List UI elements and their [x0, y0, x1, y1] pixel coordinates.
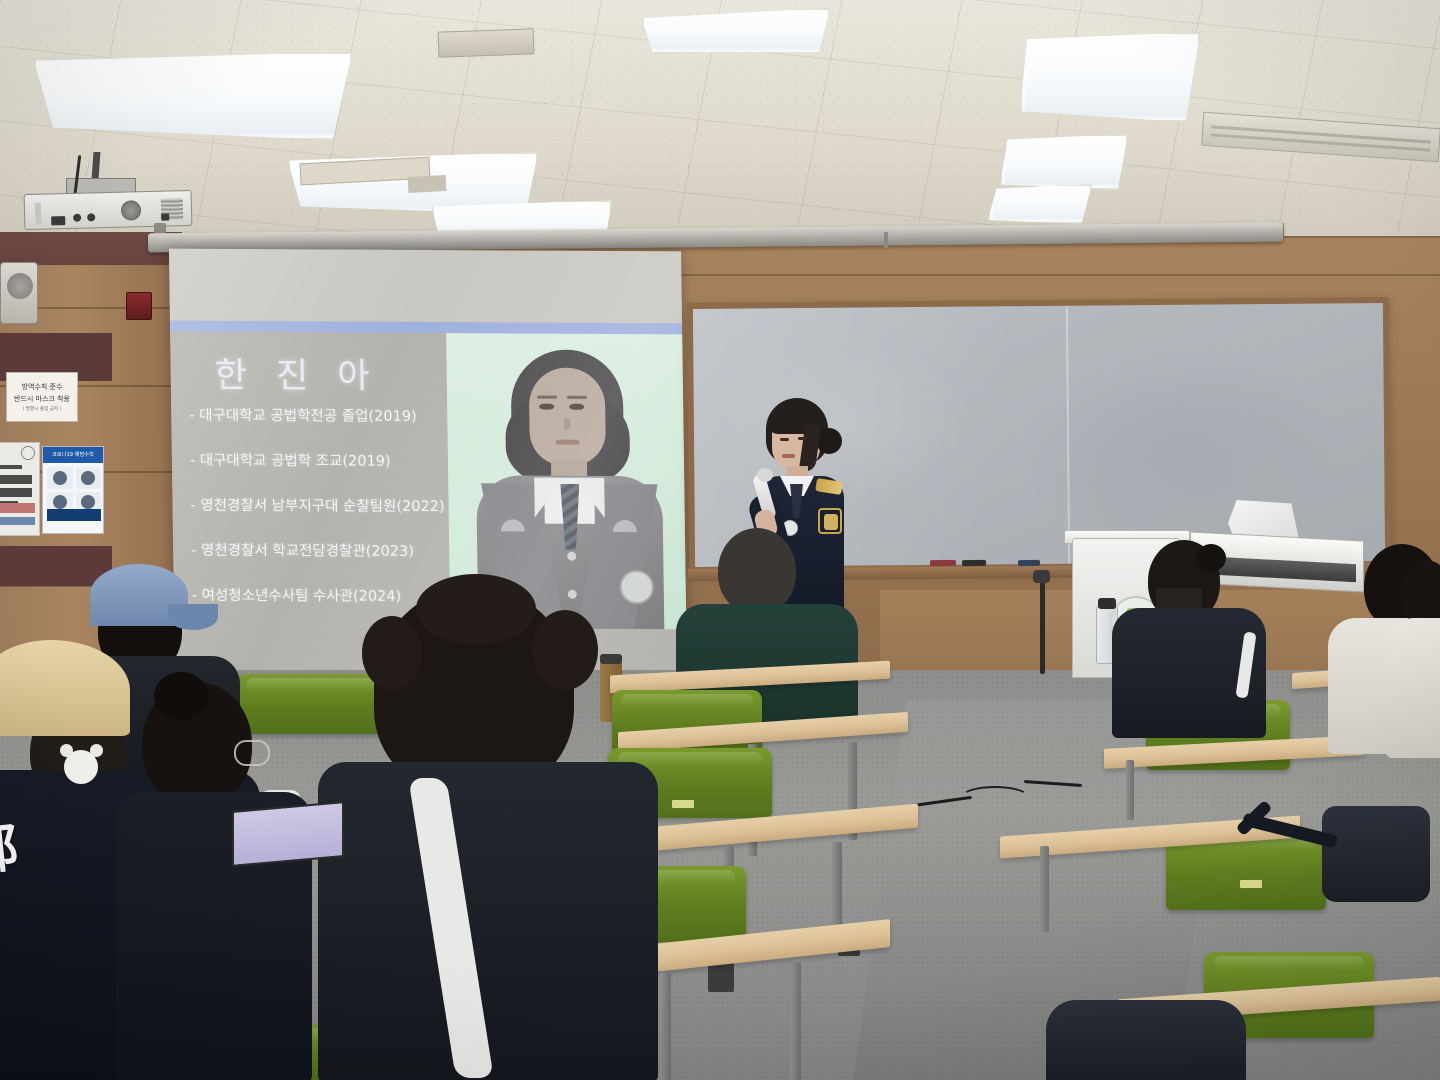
slide-bullet-5: - 여성청소년수사팀 수사관(2024)	[192, 588, 444, 605]
notice-poster-gray	[0, 442, 40, 536]
backpack	[1322, 806, 1430, 902]
mask-sign-line2: 반드시 마스크 착용	[14, 394, 70, 404]
handwash-icon	[47, 467, 73, 489]
poster-header-text: 코로나19 예방수칙	[43, 447, 103, 463]
projector-lens-icon	[121, 200, 141, 220]
police-shoulder-patch	[818, 508, 842, 534]
ceiling-access-hatch	[408, 175, 447, 193]
classroom-photo-scene: 방역수칙 준수 반드시 마스크 착용 ( 발열시 출입 금지 ) 코로나19 예…	[0, 0, 1440, 1080]
chair	[236, 674, 396, 734]
eyeglasses-icon	[234, 740, 270, 766]
mask-sign-line3: ( 발열시 출입 금지 )	[22, 406, 61, 412]
seal-icon	[21, 446, 35, 460]
fire-alarm-box	[126, 292, 152, 320]
chair-label	[1240, 880, 1262, 888]
mask-icon	[76, 467, 102, 489]
slide-bullet-4: - 영천경찰서 학교전담경찰관(2023)	[191, 544, 443, 561]
marker-red	[930, 560, 956, 566]
cap-brim	[168, 604, 218, 630]
desk-foot	[708, 962, 734, 992]
slide-accent-bar	[170, 321, 682, 335]
covid-prevention-poster: 코로나19 예방수칙	[42, 446, 104, 534]
ceiling-light-panel	[1020, 32, 1200, 122]
speaker-cone-icon	[7, 273, 33, 299]
ceiling-light-panel	[1000, 134, 1128, 190]
screen-blank-area	[169, 249, 682, 324]
poster-icon-grid	[47, 467, 101, 513]
slide-bullet-3: - 영천경찰서 남부지구대 순찰팀원(2022)	[190, 499, 442, 516]
slide-bullet-list: - 대구대학교 공법학전공 졸업(2019) - 대구대학교 공법학 조교(20…	[189, 409, 444, 635]
desk-leg	[1040, 846, 1049, 932]
poster-footer	[47, 509, 101, 521]
slide-title: 한 진 아	[214, 347, 379, 399]
mask-sign-line1: 방역수칙 준수	[22, 382, 63, 392]
mask-notice-sign: 방역수칙 준수 반드시 마스크 착용 ( 발열시 출입 금지 )	[6, 372, 78, 422]
ceiling-projector	[24, 190, 193, 230]
desk-leg	[1126, 760, 1134, 820]
slide-bullet-1: - 대구대학교 공법학전공 졸업(2019)	[189, 409, 441, 426]
audience-member	[1046, 1000, 1246, 1080]
microphone-stand	[1040, 578, 1045, 674]
marker-black	[962, 560, 986, 566]
laptop-screen[interactable]	[232, 801, 344, 867]
thermos-cap	[600, 654, 622, 664]
poster-header: 코로나19 예방수칙	[43, 447, 103, 463]
microphone-receiver	[1033, 570, 1050, 583]
desk-leg	[660, 972, 671, 1080]
ceiling-light-panel	[988, 184, 1092, 224]
ceiling-light-panel	[34, 52, 352, 140]
wall-speaker	[0, 262, 38, 324]
desk-leg	[790, 962, 801, 1080]
ceiling-sensor-box	[438, 28, 535, 57]
marker-blue	[1018, 560, 1040, 566]
roller-joint	[884, 232, 888, 248]
slide-bullet-2: - 대구대학교 공법학 조교(2019)	[190, 454, 442, 471]
microphone-head-icon	[757, 468, 773, 482]
bottle-cap	[1098, 598, 1116, 609]
chair-label	[672, 800, 694, 808]
